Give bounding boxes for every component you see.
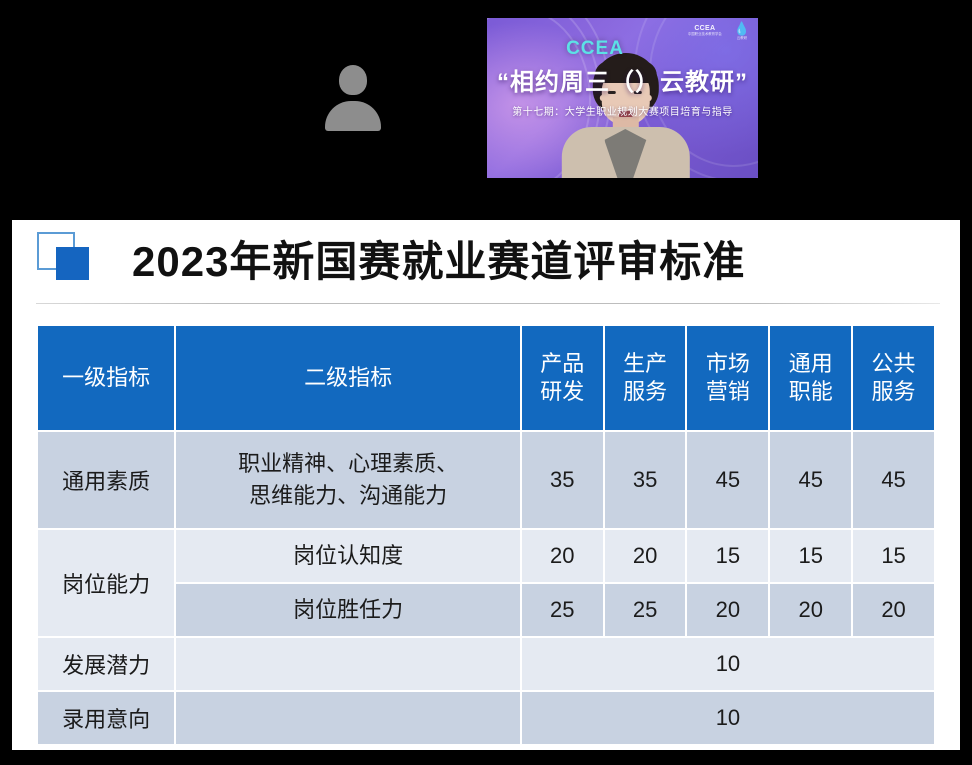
column-header-track-product-rd: 产品 研发 [522, 326, 603, 430]
ccea-logo-subtext: 中国职业技术教育学会 [688, 33, 722, 37]
speaker-portrait [555, 53, 695, 178]
column-header-level1: 一级指标 [38, 326, 174, 430]
cell-score: 25 [605, 584, 686, 636]
cell-level2-empty [176, 638, 519, 690]
droplet-glyph: 💧 [734, 22, 750, 35]
cell-score: 45 [770, 432, 851, 528]
decorative-square-filled-icon [56, 247, 89, 280]
cell-level1-development-potential: 发展潜力 [38, 638, 174, 690]
track-header-line1: 产品 [522, 350, 603, 378]
cell-score: 20 [687, 584, 768, 636]
cell-score: 15 [853, 530, 934, 582]
page-title: 2023年新国赛就业赛道评审标准 [132, 228, 745, 289]
video-tile-speaker[interactable]: CCEA 中国职业技术教育学会 💧 云教研 CCEA “相约周三（）云教研” [487, 18, 758, 178]
speaker-eye-right [633, 91, 641, 94]
video-call-strip: CCEA 中国职业技术教育学会 💧 云教研 CCEA “相约周三（）云教研” [218, 18, 758, 178]
criteria-table: 一级指标 二级指标 产品 研发 生产 服务 市场 营销 通用 职能 [36, 324, 936, 746]
cell-level2-line1: 职业精神、心理素质、 [176, 448, 519, 480]
table-row: 发展潜力 10 [38, 638, 934, 690]
speaker-ear-left [599, 95, 604, 101]
track-header-line1: 市场 [687, 350, 768, 378]
speaker-fringe [594, 61, 656, 83]
track-header-line2: 服务 [853, 378, 934, 406]
table-row: 录用意向 10 [38, 692, 934, 744]
ccea-logo-icon: CCEA 中国职业技术教育学会 [688, 25, 722, 37]
track-header-line1: 公共 [853, 350, 934, 378]
presentation-slide: 2023年新国赛就业赛道评审标准 一级指标 二级指标 产品 研发 生产 服务 市… [12, 220, 960, 750]
track-header-line2: 研发 [522, 378, 603, 406]
column-header-track-marketing: 市场 营销 [687, 326, 768, 430]
droplet-logo-icon: 💧 云教研 [734, 22, 750, 40]
track-header-line1: 生产 [605, 350, 686, 378]
title-divider [36, 303, 940, 304]
column-header-track-public-service: 公共 服务 [853, 326, 934, 430]
table-row: 通用素质 职业精神、心理素质、 思维能力、沟通能力 35 35 45 45 45 [38, 432, 934, 528]
cell-level2-general-quality: 职业精神、心理素质、 思维能力、沟通能力 [176, 432, 519, 528]
cell-score: 15 [770, 530, 851, 582]
cell-level2-job-awareness: 岗位认知度 [176, 530, 519, 582]
track-header-line1: 通用 [770, 350, 851, 378]
banner-logos: CCEA 中国职业技术教育学会 💧 云教研 [688, 22, 750, 40]
track-header-line2: 营销 [687, 378, 768, 406]
cell-score: 35 [522, 432, 603, 528]
cell-score-span: 10 [522, 692, 934, 744]
speaker-eye-left [607, 91, 615, 94]
cell-score-span: 10 [522, 638, 934, 690]
droplet-logo-subtext: 云教研 [734, 35, 750, 40]
speaker-ear-right [646, 95, 651, 101]
track-header-line2: 职能 [770, 378, 851, 406]
cell-level2-empty [176, 692, 519, 744]
video-tile-self[interactable] [218, 18, 487, 178]
cell-level2-line2: 思维能力、沟通能力 [176, 480, 519, 512]
table-header: 一级指标 二级指标 产品 研发 生产 服务 市场 营销 通用 职能 [38, 326, 934, 430]
cell-level2-job-capability: 岗位胜任力 [176, 584, 519, 636]
cell-level1-general-quality: 通用素质 [38, 432, 174, 528]
avatar-head [339, 65, 367, 95]
cell-score: 45 [853, 432, 934, 528]
cell-score: 45 [687, 432, 768, 528]
cell-level1-job-competence: 岗位能力 [38, 530, 174, 636]
column-header-level2: 二级指标 [176, 326, 519, 430]
slide-header: 2023年新国赛就业赛道评审标准 [12, 220, 960, 308]
cell-score: 25 [522, 584, 603, 636]
column-header-track-production-service: 生产 服务 [605, 326, 686, 430]
table-row: 岗位能力 岗位认知度 20 20 15 15 15 [38, 530, 934, 582]
column-header-track-general-function: 通用 职能 [770, 326, 851, 430]
track-header-line2: 服务 [605, 378, 686, 406]
cell-score: 20 [605, 530, 686, 582]
cell-score: 20 [770, 584, 851, 636]
cell-level1-hiring-intention: 录用意向 [38, 692, 174, 744]
person-avatar-icon [322, 65, 384, 131]
cell-score: 20 [853, 584, 934, 636]
avatar-body [325, 101, 381, 131]
table-header-row: 一级指标 二级指标 产品 研发 生产 服务 市场 营销 通用 职能 [38, 326, 934, 430]
cell-score: 35 [605, 432, 686, 528]
table-body: 通用素质 职业精神、心理素质、 思维能力、沟通能力 35 35 45 45 45… [38, 432, 934, 744]
cell-score: 15 [687, 530, 768, 582]
cell-score: 20 [522, 530, 603, 582]
